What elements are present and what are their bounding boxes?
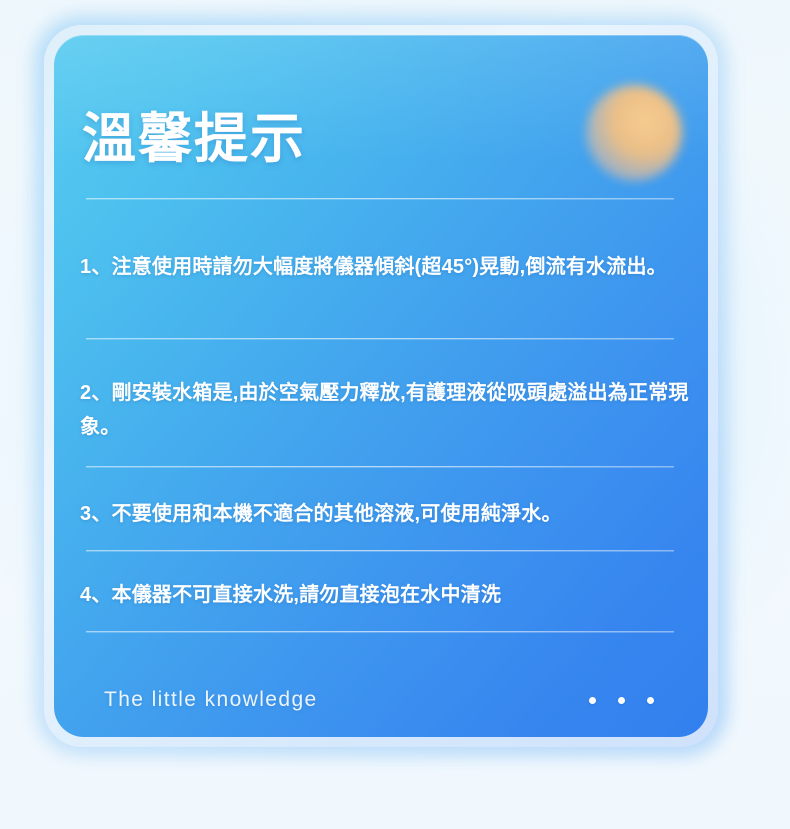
- footer-dots: [589, 697, 672, 704]
- list-item: 3、不要使用和本機不適合的其他溶液,可使用純淨水。: [80, 497, 690, 531]
- divider-after-item-4: [86, 631, 674, 632]
- dot-icon: [618, 697, 625, 704]
- notice-card: 溫馨提示 1、注意使用時請勿大幅度將儀器傾斜(超45°)晃動,倒流有水流出。 2…: [54, 35, 708, 737]
- card-footer: The little knowledge: [54, 675, 708, 725]
- footer-caption: The little knowledge: [104, 688, 318, 712]
- divider-after-item-3: [86, 550, 674, 551]
- list-item: 2、剛安裝水箱是,由於空氣壓力釋放,有護理液從吸頭處溢出為正常現象。: [80, 376, 690, 445]
- dot-icon: [647, 697, 654, 704]
- dot-icon: [589, 697, 596, 704]
- list-item: 4、本儀器不可直接水洗,請勿直接泡在水中清洗: [80, 578, 690, 612]
- card-content: 溫馨提示 1、注意使用時請勿大幅度將儀器傾斜(超45°)晃動,倒流有水流出。 2…: [54, 35, 708, 737]
- divider-title: [86, 198, 674, 199]
- list-item: 1、注意使用時請勿大幅度將儀器傾斜(超45°)晃動,倒流有水流出。: [80, 250, 690, 284]
- divider-after-item-1: [86, 338, 674, 339]
- page-title: 溫馨提示: [82, 112, 306, 166]
- divider-after-item-2: [86, 466, 674, 467]
